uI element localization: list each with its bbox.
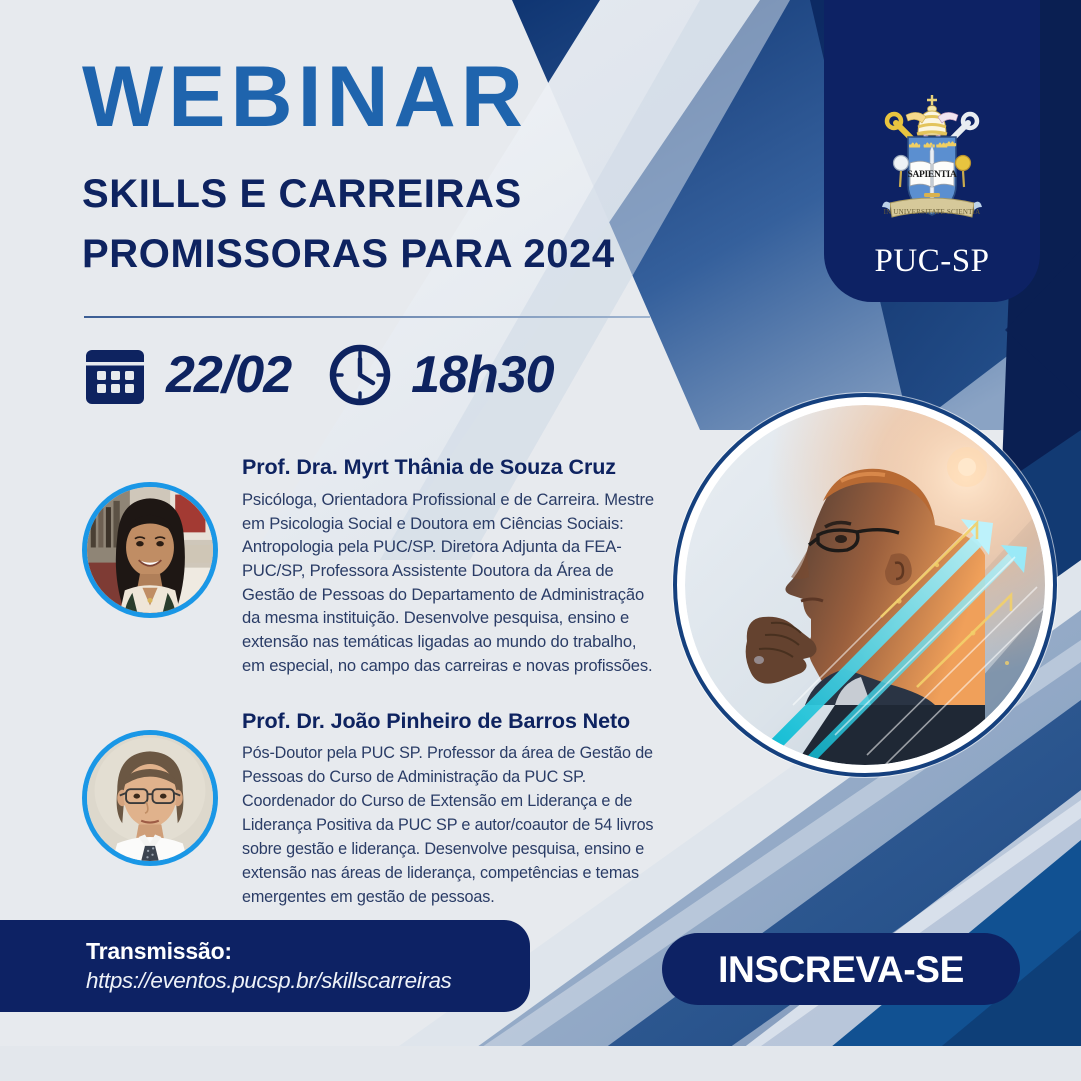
event-date-value: 22/02 [166, 349, 291, 401]
subtitle-line-2: PROMISSORAS PARA 2024 [82, 224, 682, 284]
speaker-name: Prof. Dr. João Pinheiro de Barros Neto [242, 708, 660, 735]
hero-image [685, 405, 1045, 765]
avatar [82, 482, 218, 618]
speaker-bio: Pós-Doutor pela PUC SP. Professor da áre… [242, 742, 660, 910]
svg-text:IN UNIVERSITATE SCIENTIA: IN UNIVERSITATE SCIENTIA [884, 208, 981, 216]
speaker-card: Prof. Dr. João Pinheiro de Barros Neto P… [82, 706, 660, 910]
event-time: 18h30 [325, 340, 553, 410]
transmission-banner: Transmissão: https://eventos.pucsp.br/sk… [0, 920, 530, 1012]
speaker-photo-joao-pinheiro [87, 735, 213, 861]
speaker-name: Prof. Dra. Myrt Thânia de Souza Cruz [242, 454, 660, 481]
transmission-label: Transmissão: [86, 937, 530, 966]
speaker-bio: Psicóloga, Orientadora Profissional e de… [242, 488, 660, 678]
speaker-photo-myrt-thania [87, 487, 213, 613]
avatar [82, 730, 218, 866]
calendar-icon [80, 340, 150, 410]
page-title: WEBINAR [82, 52, 682, 142]
speaker-text: Prof. Dra. Myrt Thânia de Souza Cruz Psi… [242, 452, 660, 678]
hero-image-frame [673, 393, 1057, 777]
register-button[interactable]: INSCREVA-SE [662, 933, 1020, 1005]
speaker-card: Prof. Dra. Myrt Thânia de Souza Cruz Psi… [82, 452, 660, 678]
title-block: WEBINAR SKILLS E CARREIRAS PROMISSORAS P… [82, 52, 682, 284]
event-datetime: 22/02 18h30 [80, 340, 554, 410]
puc-sp-logo-panel: SAPIENTIA IN UNIVERSITATE SCIENTIA PUC-S… [824, 0, 1040, 302]
event-time-value: 18h30 [411, 349, 553, 401]
person-looking-up-with-rising-arrows [685, 405, 1045, 765]
transmission-url[interactable]: https://eventos.pucsp.br/skillscarreiras [86, 966, 530, 995]
webinar-poster: SAPIENTIA IN UNIVERSITATE SCIENTIA PUC-S… [0, 0, 1081, 1081]
subtitle-line-1: SKILLS E CARREIRAS [82, 164, 682, 224]
register-button-label: INSCREVA-SE [718, 951, 964, 988]
title-divider [84, 316, 650, 318]
puc-sp-crest-icon: SAPIENTIA IN UNIVERSITATE SCIENTIA [868, 89, 996, 239]
clock-icon [325, 340, 395, 410]
svg-text:SAPIENTIA: SAPIENTIA [907, 170, 956, 180]
event-date: 22/02 [80, 340, 291, 410]
puc-sp-wordmark: PUC-SP [875, 245, 990, 278]
speaker-text: Prof. Dr. João Pinheiro de Barros Neto P… [242, 706, 660, 910]
